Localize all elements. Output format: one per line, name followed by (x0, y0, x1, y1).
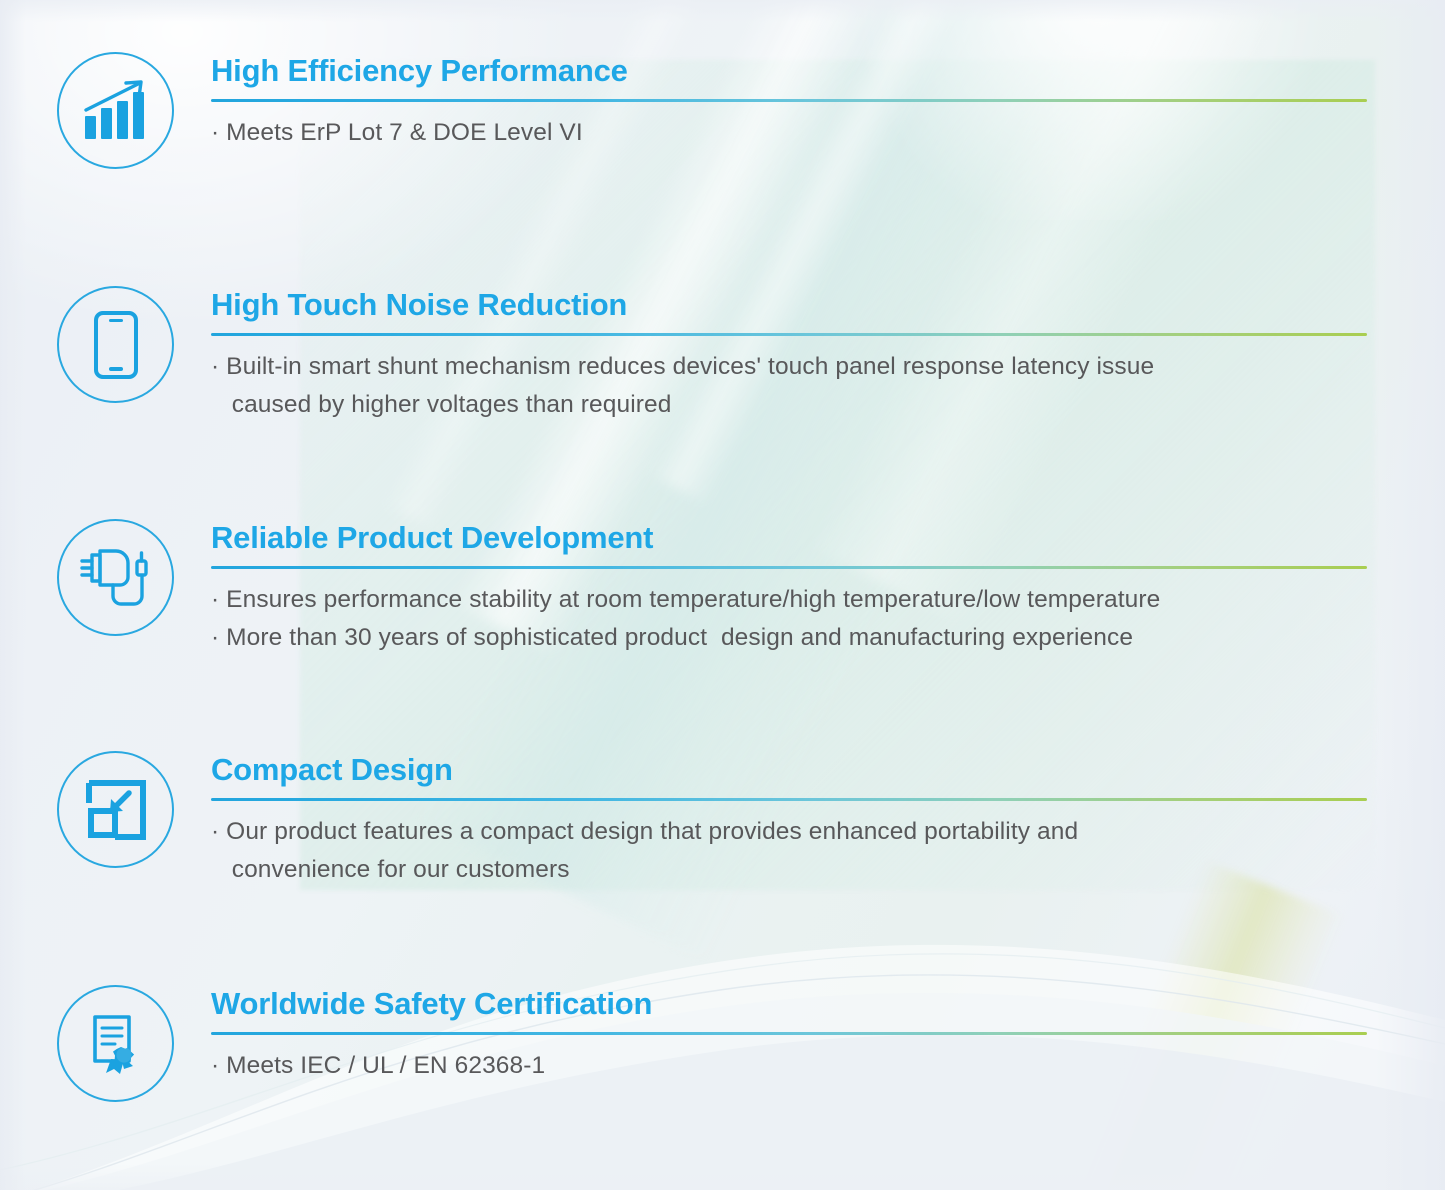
feature-title: Compact Design (211, 751, 1371, 789)
feature-divider (211, 566, 1367, 569)
feature-bullet: · Ensures performance stability at room … (211, 581, 1371, 619)
feature-text-block: Worldwide Safety Certification · Meets I… (211, 985, 1371, 1085)
feature-bullet: · More than 30 years of sophisticated pr… (211, 619, 1371, 657)
feature-bullets: · Ensures performance stability at room … (211, 581, 1371, 657)
feature-text-block: Compact Design · Our product features a … (211, 751, 1371, 889)
feature-bullets: · Our product features a compact design … (211, 813, 1371, 889)
feature-title: High Efficiency Performance (211, 52, 1371, 90)
feature-icon-wrap (57, 985, 174, 1102)
feature-bullets: · Meets IEC / UL / EN 62368-1 (211, 1047, 1371, 1085)
bar-chart-growth-icon (57, 52, 174, 169)
feature-bullet: · Meets IEC / UL / EN 62368-1 (211, 1047, 1371, 1085)
feature-icon-wrap (57, 519, 174, 636)
feature-highlights-page: High Efficiency Performance · Meets ErP … (0, 0, 1445, 1190)
feature-icon-wrap (57, 52, 174, 169)
feature-text-block: Reliable Product Development · Ensures p… (211, 519, 1371, 657)
smartphone-icon (57, 286, 174, 403)
feature-icon-wrap (57, 751, 174, 868)
feature-bullet: · Our product features a compact design … (211, 813, 1371, 889)
feature-divider (211, 1032, 1367, 1035)
power-adapter-icon (57, 519, 174, 636)
feature-bullet: · Built-in smart shunt mechanism reduces… (211, 348, 1371, 424)
feature-text-block: High Touch Noise Reduction · Built-in sm… (211, 286, 1371, 424)
feature-bullet: · Meets ErP Lot 7 & DOE Level VI (211, 114, 1371, 152)
feature-divider (211, 99, 1367, 102)
feature-divider (211, 798, 1367, 801)
feature-title: High Touch Noise Reduction (211, 286, 1371, 324)
compact-resize-icon (57, 751, 174, 868)
feature-bullets: · Meets ErP Lot 7 & DOE Level VI (211, 114, 1371, 152)
feature-title: Reliable Product Development (211, 519, 1371, 557)
feature-icon-wrap (57, 286, 174, 403)
feature-title: Worldwide Safety Certification (211, 985, 1371, 1023)
feature-text-block: High Efficiency Performance · Meets ErP … (211, 52, 1371, 152)
certificate-award-icon (57, 985, 174, 1102)
feature-divider (211, 333, 1367, 336)
feature-bullets: · Built-in smart shunt mechanism reduces… (211, 348, 1371, 424)
